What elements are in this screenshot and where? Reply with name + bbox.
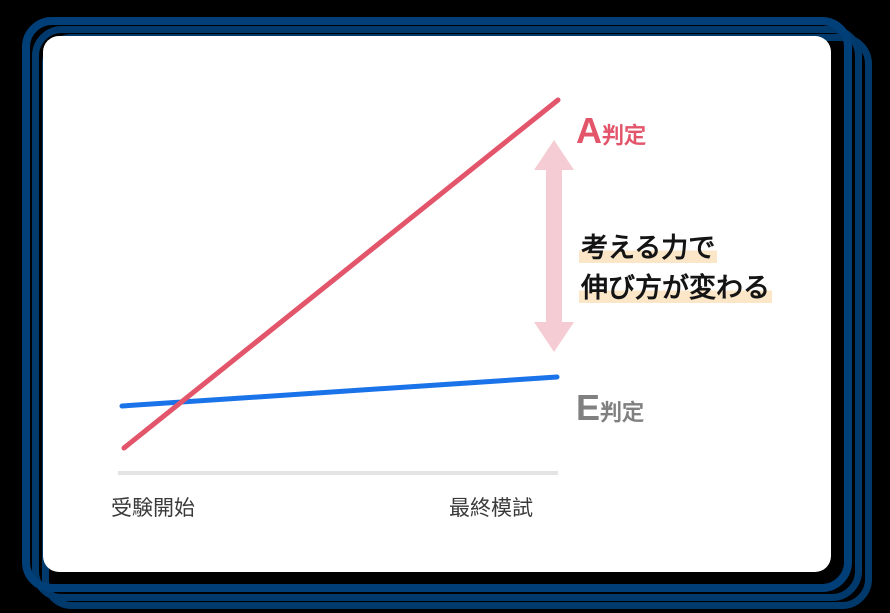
callout-line-2: 伸び方が変わる (579, 269, 819, 307)
growth-gap-arrow (534, 140, 574, 352)
label-grade-e: E判定 (576, 390, 644, 426)
callout-line-1-text: 考える力で (579, 233, 717, 263)
label-grade-a: A判定 (576, 113, 646, 149)
screenshot-root: A判定 E判定 考える力で 伸び方が変わる 受験開始 最終模試 (0, 0, 890, 613)
chart-card: A判定 E判定 考える力で 伸び方が変わる 受験開始 最終模試 (43, 36, 831, 572)
axis-label-start: 受験開始 (111, 498, 195, 519)
series-line-a (124, 100, 558, 448)
label-grade-a-suffix: 判定 (602, 123, 646, 148)
callout-line-2-text: 伸び方が変わる (579, 273, 772, 303)
axis-label-end: 最終模試 (449, 498, 533, 519)
label-grade-e-suffix: 判定 (600, 400, 644, 425)
series-line-e (122, 377, 557, 406)
label-grade-e-letter: E (576, 387, 600, 428)
callout-text: 考える力で 伸び方が変わる (579, 229, 819, 310)
callout-line-1: 考える力で (579, 229, 819, 267)
label-grade-a-letter: A (576, 110, 602, 151)
